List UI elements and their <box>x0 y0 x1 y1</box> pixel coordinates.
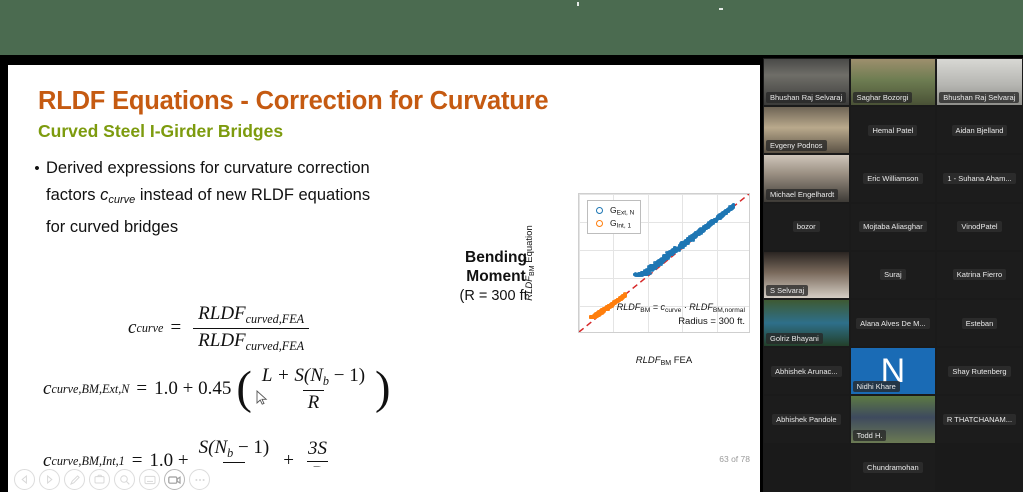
participant-name-label: VinodPatel <box>957 221 1001 232</box>
mouse-cursor-icon <box>256 390 268 406</box>
next-slide-button[interactable] <box>39 469 60 490</box>
eq3-lhs-sub: curve,BM,Int,1 <box>51 454 124 467</box>
participant-name-label: Esteban <box>962 318 998 329</box>
scatter-point <box>701 230 704 233</box>
scatter-point <box>596 311 599 314</box>
eq3-fraction-2: 3S R <box>303 438 332 467</box>
annot-sub1: BM <box>640 307 650 314</box>
zoom-meeting-screen: RLDF Equations - Correction for Curvatur… <box>0 0 1023 492</box>
scatter-point <box>727 208 730 211</box>
participant-tile[interactable]: Eric Williamson <box>851 155 936 201</box>
participant-tile[interactable]: bozor <box>764 204 849 250</box>
participant-tile[interactable]: Saghar Bozorgi <box>851 59 936 105</box>
participant-name-label: Todd H. <box>853 430 887 441</box>
scatter-point <box>714 219 717 222</box>
eq1-equals: = <box>170 317 181 339</box>
scatter-point <box>620 297 623 300</box>
annot-sub2: curve <box>665 307 681 314</box>
scatter-point <box>593 315 596 318</box>
participant-tile[interactable]: Alana Alves De M... <box>851 300 936 346</box>
y-tick-mark <box>578 278 579 279</box>
eq2-close-paren: ) <box>375 373 391 406</box>
participant-tile[interactable]: Bhushan Raj Selvaraj <box>937 59 1022 105</box>
participant-name-label: Abhishek Pandole <box>772 414 840 425</box>
shared-slide[interactable]: RLDF Equations - Correction for Curvatur… <box>8 65 760 467</box>
eq2-equals: = <box>136 378 147 400</box>
participant-name-label: bozor <box>793 221 820 232</box>
eq3-lhs: c <box>43 450 51 467</box>
eq1-lhs-sub: curve <box>136 321 163 336</box>
legend-gext-sub: Ext, N <box>617 209 635 216</box>
background-speck <box>577 2 579 6</box>
eq2-lhs: c <box>43 378 51 400</box>
x-tick-mark <box>579 332 580 333</box>
participant-name-label: Aidan Bjelland <box>952 125 1008 136</box>
presentation-toolbar[interactable] <box>8 467 760 492</box>
eq2-lhs-sub: curve,BM,Ext,N <box>51 382 129 397</box>
eq1-lhs: c <box>128 317 136 339</box>
participant-tile[interactable]: Suraj <box>851 252 936 298</box>
participant-name-label: Alana Alves De M... <box>856 318 929 329</box>
annot-main: RLDF <box>617 302 641 312</box>
eq1-num-sub: curved,FEA <box>246 312 304 326</box>
participant-name-label: Katrina Fierro <box>953 269 1006 280</box>
legend-marker-orange <box>596 220 603 227</box>
legend-gint-sub: Int, 1 <box>617 222 631 229</box>
triangle-left-icon <box>20 475 29 484</box>
participant-name-label: Hemal Patel <box>868 125 917 136</box>
participant-name-label: Abhishek Arunac... <box>771 366 842 377</box>
annot-sub3: BM,normal <box>713 307 745 314</box>
chart-plot-area: 0.20.40.60.81.01.20.20.40.60.81.01.2 GEx… <box>578 193 750 333</box>
bullet-line-3: for curved bridges <box>46 218 178 236</box>
x-label-main: RLDF <box>636 355 661 366</box>
annot-mid2: · RLDF <box>681 302 713 312</box>
triangle-right-icon <box>45 475 54 484</box>
y-label-main: RLDF <box>524 276 535 301</box>
y-label-sub: BM <box>529 265 536 276</box>
screenshot-button[interactable] <box>89 469 110 490</box>
eq3-fraction-1: S(Nb − 1) R <box>194 437 275 467</box>
participant-name-label: Shay Rutenberg <box>948 366 1010 377</box>
participant-name-label: Bhushan Raj Selvaraj <box>766 92 846 103</box>
equation-c-curve-bm-ext-n: ccurve,BM,Ext,N = 1.0 + 0.45 ( L + S(Nb … <box>43 365 391 414</box>
scatter-point <box>692 237 695 240</box>
legend-entry-gint: GInt, 1 <box>592 217 634 230</box>
page-subtitle: Curved Steel I-Girder Bridges <box>38 121 283 142</box>
participant-tile[interactable]: Golriz Bhayani <box>764 300 849 346</box>
rldf-scatter-chart: RLDFBM Equation RLDFBM FEA 0.20.40.60.81… <box>526 187 760 369</box>
eq1-num-main: RLDF <box>198 303 246 324</box>
participant-tile[interactable]: Shay Rutenberg <box>937 348 1022 394</box>
scatter-point <box>612 302 615 305</box>
eq2-open-paren: ( <box>236 373 252 406</box>
participant-tile[interactable]: Esteban <box>937 300 1022 346</box>
zoom-button[interactable] <box>114 469 135 490</box>
scatter-point <box>647 272 650 275</box>
more-options-button[interactable] <box>189 469 210 490</box>
chart-y-axis-label: RLDFBM Equation <box>524 225 536 301</box>
chart-annotation-formula: RLDFBM = ccurve · RLDFBM,normal <box>617 302 745 314</box>
x-tick-mark <box>648 332 649 333</box>
participant-tile[interactable]: VinodPatel <box>937 204 1022 250</box>
participant-name-label: Chundramohan <box>863 462 923 473</box>
participant-tile[interactable]: Bhushan Raj Selvaraj <box>764 59 849 105</box>
x-tick-mark <box>613 332 614 333</box>
y-label-tail: Equation <box>524 225 535 265</box>
eq1-numerator: RLDFcurved,FEA <box>193 303 309 328</box>
participant-name-label: S Selvaraj <box>766 285 808 296</box>
c-curve-subscript: curve <box>108 194 135 206</box>
participant-name-label: Michael Engelhardt <box>766 189 838 200</box>
video-camera-icon <box>168 475 181 485</box>
eq2-denominator: R <box>303 390 325 414</box>
participant-name-label: Eric Williamson <box>863 173 922 184</box>
chart-annotation-radius: Radius = 300 ft. <box>617 316 745 327</box>
page-title: RLDF Equations - Correction for Curvatur… <box>38 87 548 116</box>
participant-tile[interactable]: Aidan Bjelland <box>937 107 1022 153</box>
caption-icon <box>144 475 156 485</box>
legend-gext-main: G <box>610 205 617 215</box>
participant-tile[interactable]: Michael Engelhardt <box>764 155 849 201</box>
participant-video-panel[interactable]: Bhushan Raj SelvarajSaghar BozorgiBhusha… <box>763 58 1023 492</box>
participant-tile[interactable]: Todd H. <box>851 396 936 442</box>
desktop-background-top <box>0 0 1023 55</box>
participant-tile[interactable]: Abhishek Pandole <box>764 396 849 442</box>
bullet-text: Derived expressions for curvature correc… <box>46 155 370 241</box>
eq2-num-tail: − 1) <box>329 365 365 386</box>
legend-label-gint: GInt, 1 <box>610 218 631 230</box>
scatter-point <box>676 248 679 251</box>
participant-name-label: Evgeny Podnos <box>766 140 827 151</box>
bullet-item: • Derived expressions for curvature corr… <box>28 155 453 241</box>
eq3-num1-tail: − 1) <box>233 437 269 458</box>
scatter-point <box>640 271 643 274</box>
scatter-point <box>624 294 627 297</box>
slide-page-indicator: 63 of 78 <box>719 454 750 464</box>
bullet-line-2a: factors <box>46 186 100 204</box>
participant-tile[interactable]: Hemal Patel <box>851 107 936 153</box>
legend-gint-main: G <box>610 218 617 228</box>
participant-tile[interactable]: Abhishek Arunac... <box>764 348 849 394</box>
eq3-equals: = <box>132 450 143 467</box>
participant-tile[interactable]: Evgeny Podnos <box>764 107 849 153</box>
chart-annotation: RLDFBM = ccurve · RLDFBM,normal Radius =… <box>617 302 745 327</box>
y-tick-mark <box>578 250 579 251</box>
x-label-tail: FEA <box>671 355 692 366</box>
chart-x-axis-label: RLDFBM FEA <box>636 355 692 367</box>
eq1-fraction: RLDFcurved,FEA RLDFcurved,FEA <box>193 303 309 354</box>
participant-tile[interactable]: 1 - Suhana Aham... <box>937 155 1022 201</box>
record-button[interactable] <box>164 469 185 490</box>
participant-tile[interactable]: S Selvaraj <box>764 252 849 298</box>
pen-icon <box>69 474 81 486</box>
eq2-numerator: L + S(Nb − 1) <box>257 365 370 390</box>
eq2-constant: 1.0 + 0.45 <box>154 378 231 400</box>
eq1-den-main: RLDF <box>198 330 246 351</box>
x-tick-mark <box>717 332 718 333</box>
participant-name-label: R THATCHANAM... <box>943 414 1016 425</box>
equation-c-curve-bm-int-1: ccurve,BM,Int,1 = 1.0 + S(Nb − 1) R + 3S… <box>43 437 337 467</box>
y-tick-mark <box>578 222 579 223</box>
participant-name-label: Saghar Bozorgi <box>853 92 913 103</box>
x-label-sub: BM <box>661 360 672 367</box>
participant-name-label: Bhushan Raj Selvaraj <box>939 92 1019 103</box>
camera-icon <box>94 474 106 485</box>
eq2-num-main: L + S(N <box>262 365 323 386</box>
annotate-pen-button[interactable] <box>64 469 85 490</box>
prev-slide-button[interactable] <box>14 469 35 490</box>
participant-name-label: Mojtaba Aliasghar <box>859 221 927 232</box>
participant-name-label: Suraj <box>880 269 906 280</box>
annot-mid: = c <box>650 302 665 312</box>
bullet-marker: • <box>28 155 46 241</box>
eq3-numerator-2: 3S <box>303 438 332 461</box>
participant-tile[interactable]: Katrina Fierro <box>937 252 1022 298</box>
scatter-point <box>650 264 653 267</box>
bullet-line-2b: instead of new RLDF equations <box>135 186 370 204</box>
scatter-point <box>607 306 610 309</box>
participant-tile[interactable]: Chundramohan <box>851 445 936 491</box>
legend-entry-gext: GExt, N <box>592 204 634 217</box>
equation-c-curve: ccurve = RLDFcurved,FEA RLDFcurved,FEA <box>128 303 314 354</box>
participant-tile[interactable]: R THATCHANAM... <box>937 396 1022 442</box>
y-tick-mark <box>578 194 579 195</box>
eq1-den-sub: curved,FEA <box>246 339 304 353</box>
eq3-constant: 1.0 + <box>149 450 188 467</box>
bullet-line-1: Derived expressions for curvature correc… <box>46 159 370 177</box>
eq1-denominator: RLDFcurved,FEA <box>193 328 309 354</box>
eq3-numerator-1: S(Nb − 1) <box>194 437 275 462</box>
magnifier-icon <box>119 474 131 486</box>
participant-tile[interactable]: NNidhi Khare <box>851 348 936 394</box>
eq2-fraction: L + S(Nb − 1) R <box>257 365 370 414</box>
eq3-num1-main: S(N <box>199 437 228 458</box>
ellipsis-icon <box>194 478 206 482</box>
participant-tile[interactable]: Mojtaba Aliasghar <box>851 204 936 250</box>
participant-name-label: Golriz Bhayani <box>766 333 823 344</box>
eq3-plus: + <box>283 450 294 467</box>
background-speck <box>719 8 723 10</box>
chart-legend: GExt, N GInt, 1 <box>587 200 641 234</box>
x-tick-mark <box>682 332 683 333</box>
legend-marker-blue <box>596 207 603 214</box>
participant-name-label: 1 - Suhana Aham... <box>943 173 1015 184</box>
participant-name-label: Nidhi Khare <box>853 381 900 392</box>
y-tick-mark <box>578 306 579 307</box>
captions-button[interactable] <box>139 469 160 490</box>
legend-label-gext: GExt, N <box>610 205 634 217</box>
